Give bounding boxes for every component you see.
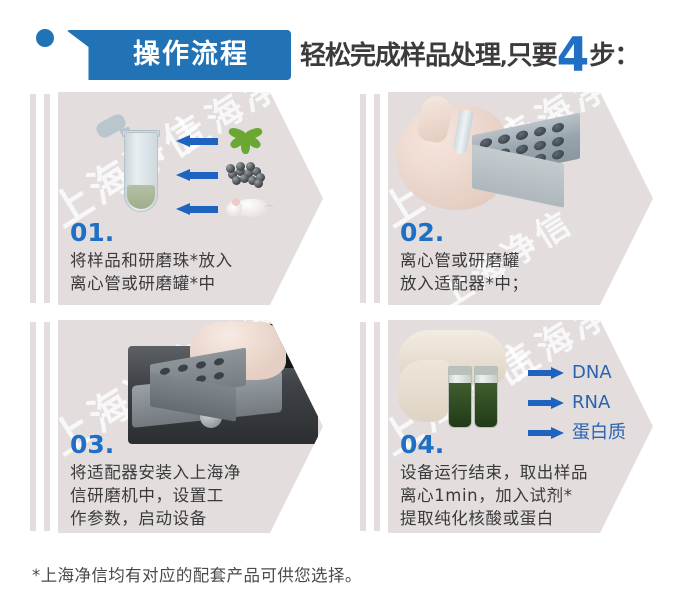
step-description: 将样品和研磨珠*放入 离心管或研磨罐*中: [70, 249, 233, 295]
step-number: 02.: [400, 220, 444, 246]
footnote: *上海净信均有对应的配套产品可供您选择。: [32, 562, 362, 586]
headline-step-count: 4: [557, 28, 590, 83]
headline-suffix: 步：: [589, 41, 639, 71]
step-04-illustration: [398, 326, 528, 432]
output-label: 蛋白质: [572, 421, 626, 445]
leaf-sample-icon: [228, 124, 262, 156]
step-description: 将适配器安装入上海净 信研磨机中，设置工 作参数，启动设备: [70, 461, 241, 530]
step-card-02: 上海净信 上海净信 上海净信: [360, 92, 653, 305]
step-card-body: 上海净信 上海净信 03: [58, 320, 323, 533]
step-card-body: 上海净信 上海净信: [58, 92, 323, 305]
step-card-body: 上海净信 上海净信 DNA: [388, 320, 653, 533]
card-accent-bar: [30, 322, 36, 531]
sample-vial: [474, 366, 498, 428]
card-accent-bar: [360, 322, 366, 531]
arrow-right-icon: [528, 427, 564, 439]
step-card-01: 上海净信 上海净信: [30, 92, 323, 305]
card-accent-bar: [374, 94, 380, 303]
headline-comma: ,: [500, 45, 507, 69]
headline-prefix: 轻松完成样品处理: [300, 41, 500, 71]
step-02-illustration: [394, 96, 604, 214]
sample-row-beads: [176, 162, 286, 188]
card-accent-bar: [30, 94, 36, 303]
gloved-palm: [398, 360, 450, 422]
step-card-04: 上海净信 上海净信 DNA: [360, 320, 653, 533]
output-label: DNA: [572, 361, 612, 385]
badge-dot-icon: [36, 29, 54, 47]
arrow-right-icon: [528, 367, 564, 379]
section-badge-label: 操作流程: [96, 36, 286, 74]
grinding-beads-sample-icon: [226, 162, 266, 186]
step-description: 设备运行结束，取出样品 离心1min，加入试剂* 提取纯化核酸或蛋白: [400, 461, 588, 530]
step-description: 离心管或研磨罐 放入适配器*中；: [400, 249, 529, 295]
sample-vial: [448, 366, 472, 428]
card-accent-bar: [44, 322, 50, 531]
card-accent-bar: [374, 322, 380, 531]
output-label: RNA: [572, 391, 610, 415]
mouse-sample-icon: [226, 193, 270, 220]
step-03-illustration: [128, 322, 318, 444]
step-card-body: 上海净信 上海净信 上海净信: [388, 92, 653, 305]
tube-liquid: [127, 185, 155, 209]
arrow-right-icon: [528, 397, 564, 409]
step-card-03: 上海净信 上海净信 03: [30, 320, 323, 533]
headline-middle: 只要: [507, 41, 557, 71]
card-accent-bar: [360, 94, 366, 303]
tube-body: [124, 132, 158, 212]
arrow-left-icon: [176, 169, 218, 181]
arrow-left-icon: [176, 203, 218, 215]
page-headline: 轻松完成样品处理,只要4步：: [300, 34, 639, 79]
step-number: 03.: [70, 432, 114, 458]
arrow-left-icon: [176, 135, 218, 147]
step-number: 01.: [70, 220, 114, 246]
page-header: 操作流程 轻松完成样品处理,只要4步：: [0, 0, 700, 92]
card-accent-bar: [44, 94, 50, 303]
sample-row-leaf: [176, 128, 286, 154]
sample-row-mouse: [176, 196, 286, 222]
centrifuge-tube-icon: [124, 120, 158, 212]
step-number: 04.: [400, 432, 444, 458]
